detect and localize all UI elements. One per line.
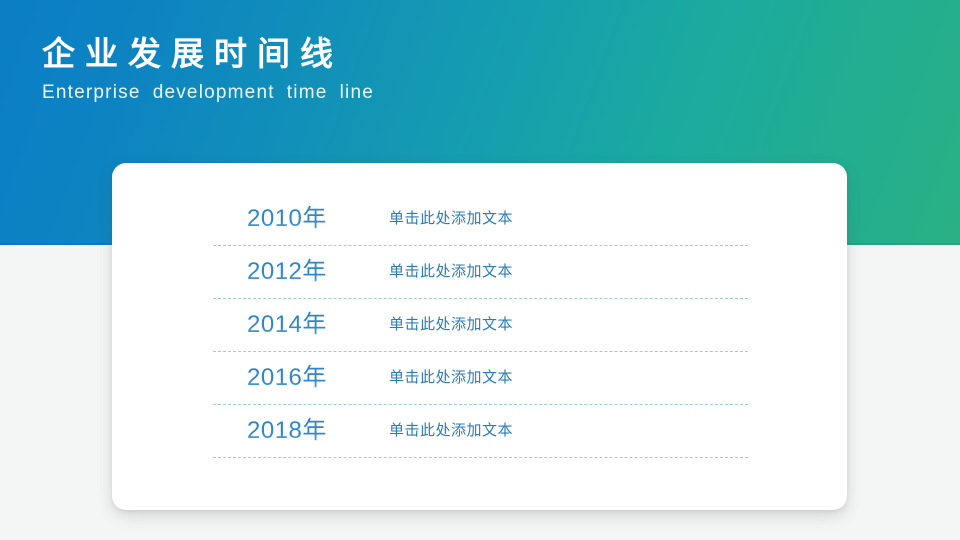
page-subtitle: Enterprise development time line	[42, 80, 374, 106]
title-block: 企业发展时间线 Enterprise development time line	[42, 32, 372, 106]
timeline-body-text[interactable]: 单击此处添加文本	[350, 420, 748, 442]
page-title: 企业发展时间线	[42, 32, 372, 76]
timeline-year-label: 2010年	[213, 204, 350, 234]
timeline-row[interactable]: 2014年 单击此处添加文本	[213, 299, 748, 352]
timeline-list: 2010年 单击此处添加文本 2012年 单击此处添加文本 2014年 单击此处…	[213, 193, 748, 458]
timeline-row[interactable]: 2016年 单击此处添加文本	[213, 352, 748, 405]
timeline-card: 2010年 单击此处添加文本 2012年 单击此处添加文本 2014年 单击此处…	[112, 163, 847, 510]
timeline-body-text[interactable]: 单击此处添加文本	[350, 367, 748, 389]
timeline-year-label: 2018年	[213, 416, 350, 446]
timeline-row[interactable]: 2012年 单击此处添加文本	[213, 246, 748, 299]
timeline-row[interactable]: 2018年 单击此处添加文本	[213, 405, 748, 458]
timeline-year-label: 2014年	[213, 310, 350, 340]
slide-canvas: 企业发展时间线 Enterprise development time line…	[0, 0, 960, 540]
timeline-body-text[interactable]: 单击此处添加文本	[350, 261, 748, 283]
timeline-body-text[interactable]: 单击此处添加文本	[350, 208, 748, 230]
timeline-year-label: 2012年	[213, 257, 350, 287]
timeline-body-text[interactable]: 单击此处添加文本	[350, 314, 748, 336]
timeline-row[interactable]: 2010年 单击此处添加文本	[213, 193, 748, 246]
timeline-year-label: 2016年	[213, 363, 350, 393]
